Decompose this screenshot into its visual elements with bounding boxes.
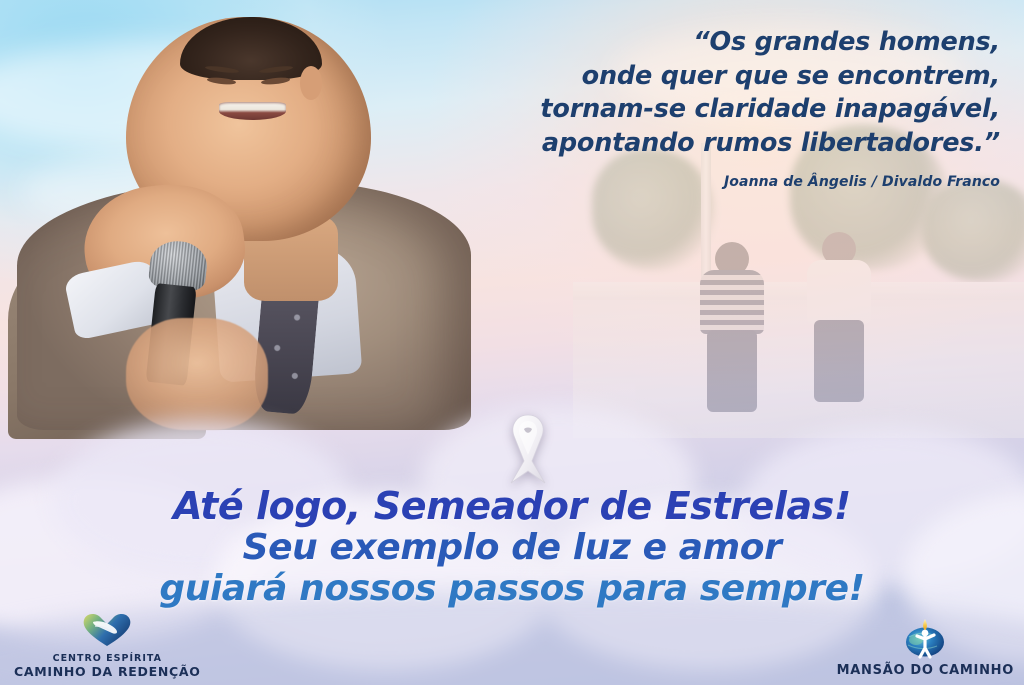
- memorial-tribute-banner: “Os grandes homens, onde quer que se enc…: [0, 0, 1024, 685]
- headline-block: Até logo, Semeador de Estrelas! Seu exem…: [0, 486, 1024, 609]
- foliage-shape: [922, 179, 1024, 281]
- footer-logo-mansao-do-caminho: MANSÃO DO CAMINHO: [837, 615, 1014, 679]
- hair: [180, 17, 322, 80]
- quote-block: “Os grandes homens, onde quer que se enc…: [380, 26, 1000, 190]
- headline-line-1: Até logo, Semeador de Estrelas!: [0, 486, 1024, 527]
- headline-line-2: Seu exemplo de luz e amor: [0, 529, 1024, 568]
- figure-child: [696, 242, 768, 414]
- smiling-mouth: [219, 102, 285, 120]
- headline-line-3: guiará nossos passos para sempre!: [0, 570, 1024, 609]
- footer-logo-right-name: MANSÃO DO CAMINHO: [837, 664, 1014, 679]
- quote-line-1: “Os grandes homens,: [380, 26, 1000, 60]
- footer-logo-right-text: MANSÃO DO CAMINHO: [837, 664, 1014, 679]
- figure-torso: [807, 260, 871, 324]
- ear: [300, 66, 322, 100]
- quote-line-4: apontando rumos libertadores.”: [380, 127, 1000, 161]
- heart-hands-icon: [79, 609, 135, 654]
- white-ribbon-icon: [497, 409, 559, 487]
- quote-attribution: Joanna de Ângelis / Divaldo Franco: [380, 174, 1000, 190]
- quote-line-2: onde quer que se encontrem,: [380, 60, 1000, 94]
- footer-logo-left-text: CENTRO ESPÍRITA CAMINHO DA REDENÇÃO: [14, 654, 201, 679]
- figure-torso: [700, 270, 764, 334]
- footer-logo-centro-espirita: CENTRO ESPÍRITA CAMINHO DA REDENÇÃO: [14, 609, 201, 679]
- figure-legs: [707, 330, 757, 412]
- figure-legs: [814, 320, 864, 402]
- figure-adult: [800, 232, 878, 414]
- hand-holding-microphone: [126, 318, 268, 430]
- globe-figure-icon: [900, 615, 950, 664]
- quote-line-3: tornam-se claridade inapagável,: [380, 93, 1000, 127]
- footer-logo-left-line2: CAMINHO DA REDENÇÃO: [14, 665, 201, 679]
